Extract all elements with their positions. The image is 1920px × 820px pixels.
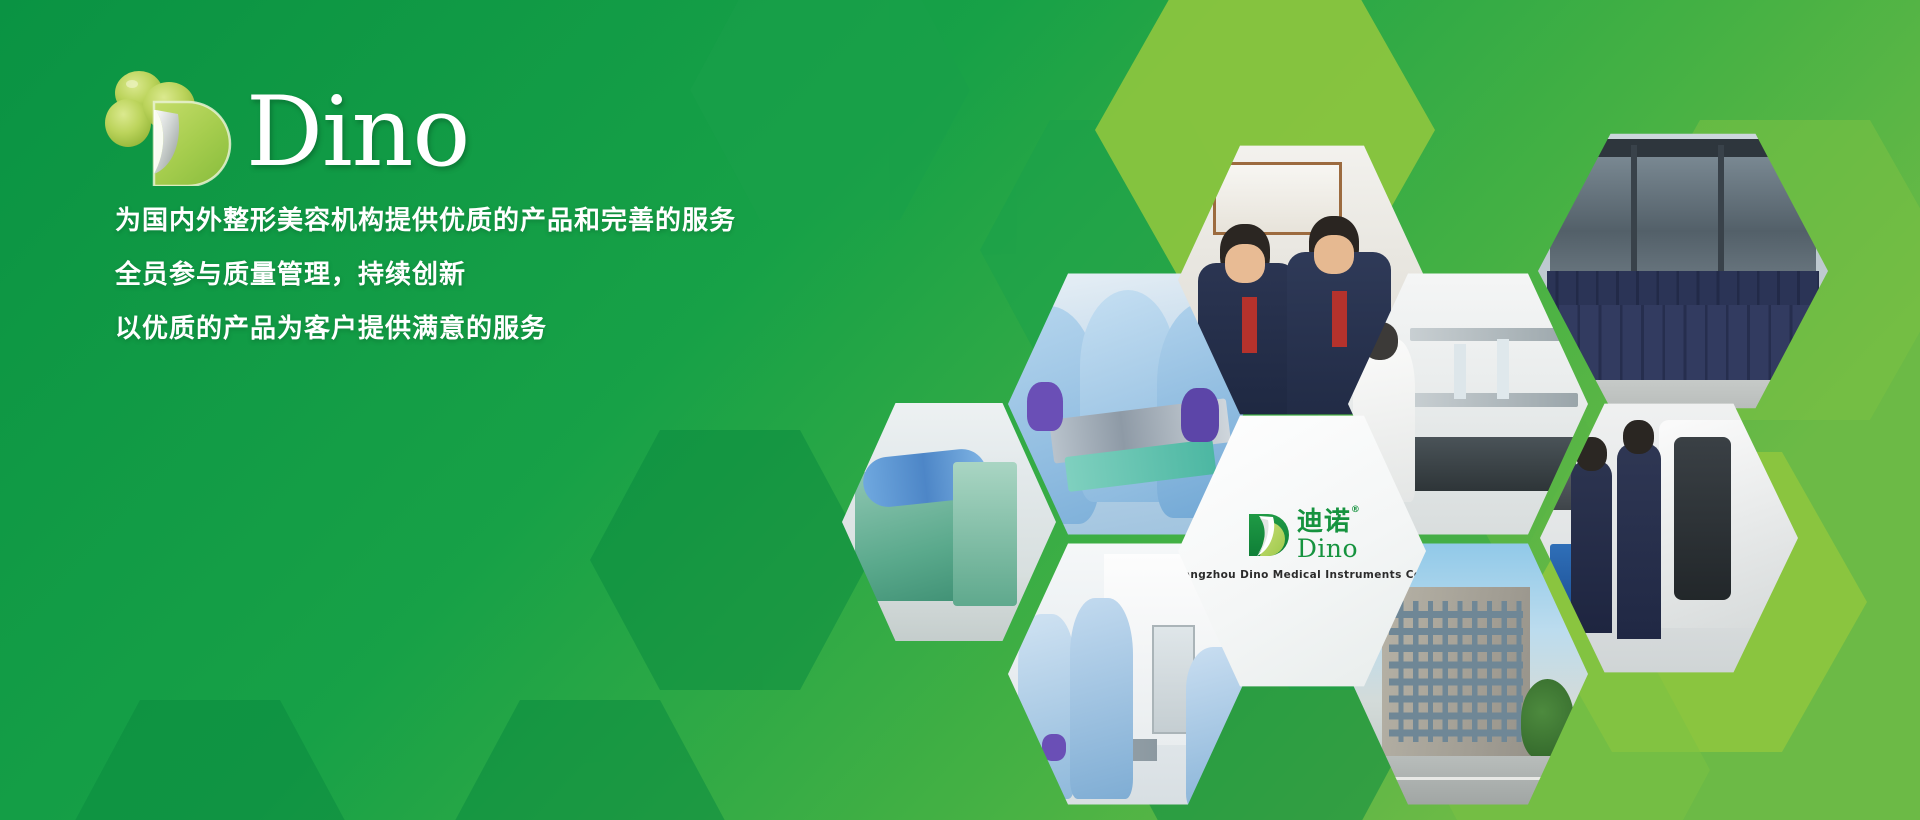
center-logo-text: 迪诺® Dino: [1297, 509, 1358, 561]
dino-d-leaf-icon: [1246, 512, 1290, 558]
hexagon-photo-cluster: 迪诺® Dino Hangzhou Dino Medical Instrumen…: [0, 0, 1920, 820]
center-logo-company-line: Hangzhou Dino Medical Instruments Co..: [1174, 569, 1431, 581]
center-logo-chinese: 迪诺®: [1297, 509, 1351, 535]
center-logo-english: Dino: [1297, 536, 1358, 561]
registered-trademark-icon: ®: [1351, 506, 1361, 515]
hex-team-photo[interactable]: [1538, 128, 1828, 414]
hex-cnc-machining[interactable]: [1540, 398, 1798, 678]
center-logo-row: 迪诺® Dino: [1246, 509, 1358, 561]
company-hero-banner: Dino 为国内外整形美容机构提供优质的产品和完善的服务 全员参与质量管理，持续…: [0, 0, 1920, 820]
